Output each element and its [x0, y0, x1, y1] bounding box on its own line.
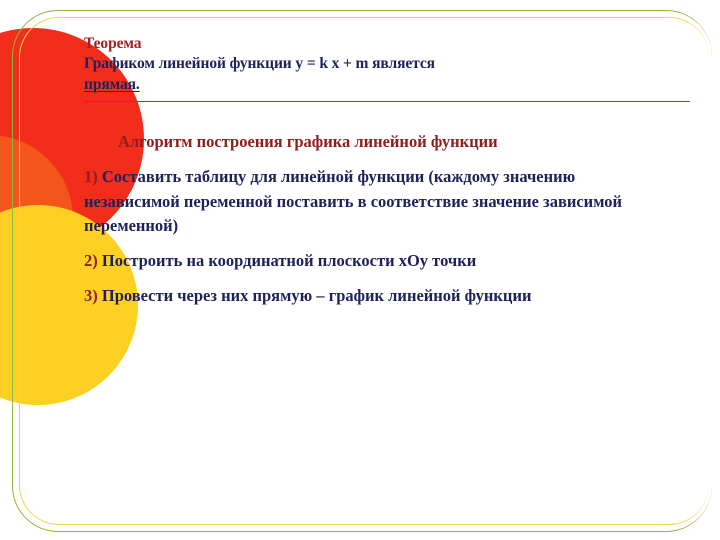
orange-circle-decoration	[0, 135, 73, 303]
algorithm-step-3-number: 3)	[84, 286, 98, 305]
theorem-title: Теорема	[84, 34, 696, 54]
slide-content: Теорема Графиком линейной функции y = k …	[84, 34, 696, 308]
theorem-block: Теорема Графиком линейной функции y = k …	[84, 34, 696, 95]
algorithm-step-2-number: 2)	[84, 251, 98, 270]
algorithm-step-3: 3) Провести через них прямую – график ли…	[84, 284, 650, 308]
theorem-statement-line-2: прямая.	[84, 75, 696, 95]
algorithm-heading: Алгоритм построения графика линейной фун…	[84, 130, 604, 154]
algorithm-step-1-text: Составить таблицу для линейной функции (…	[84, 167, 622, 234]
horizontal-divider	[84, 101, 690, 102]
algorithm-step-1-number: 1)	[84, 167, 98, 186]
algorithm-step-3-text: Провести через них прямую – график линей…	[98, 286, 532, 305]
presentation-slide: Теорема Графиком линейной функции y = k …	[0, 0, 720, 540]
gold-circle-decoration	[0, 210, 45, 350]
theorem-statement-line-1: Графиком линейной функции y = k x + m яв…	[84, 54, 696, 74]
algorithm-step-1: 1) Составить таблицу для линейной функци…	[84, 165, 629, 237]
algorithm-block: Алгоритм построения графика линейной фун…	[84, 130, 696, 307]
algorithm-step-2: 2) Построить на координатной плоскости х…	[84, 249, 629, 273]
algorithm-step-2-text: Построить на координатной плоскости хОу …	[98, 251, 476, 270]
